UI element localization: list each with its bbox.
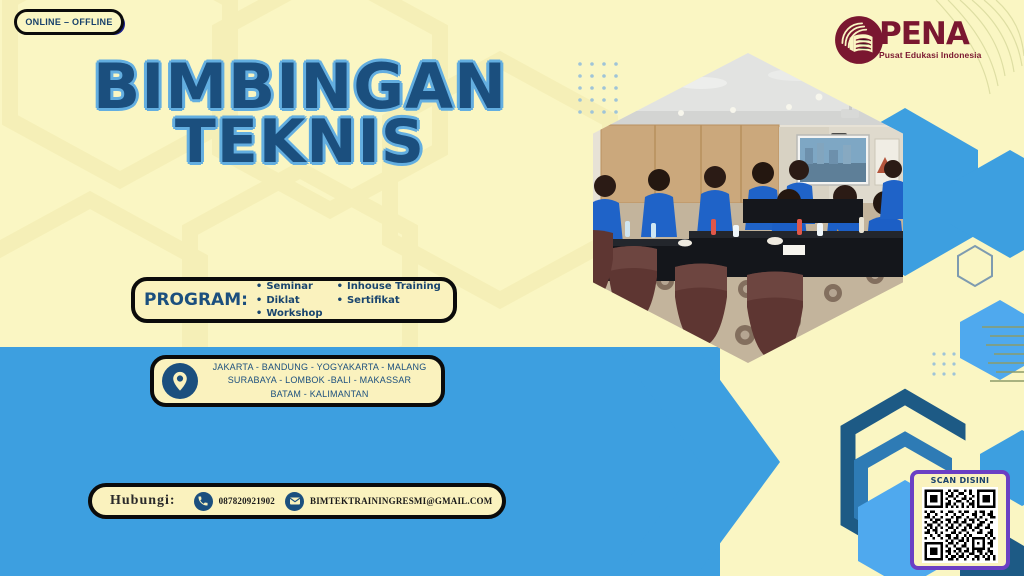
blue-chevron-band (560, 347, 780, 576)
contact-email[interactable]: BIMTEKTRAININGRESMI@GMAIL.COM (285, 492, 492, 511)
pena-emblem-icon (833, 14, 885, 66)
location-line: JAKARTA - BANDUNG - YOGYAKARTA - MALANG (204, 361, 435, 374)
program-item: Workshop (256, 308, 323, 321)
location-lines: JAKARTA - BANDUNG - YOGYAKARTA - MALANG … (204, 361, 441, 400)
logo-text: PENA Pusat Edukasi Indonesia (879, 20, 981, 59)
contact-bar: Hubungi: 087820921902 BIMTEKTRAININGRESM… (88, 483, 506, 519)
envelope-icon (285, 492, 304, 511)
program-columns: Seminar Diklat Workshop Inhouse Training… (256, 281, 441, 321)
badge-label: ONLINE – OFFLINE (25, 17, 112, 27)
page-title: BIMBINGAN TEKNIS (60, 58, 540, 170)
logo-wordmark: PENA (879, 20, 981, 49)
program-column-right: Inhouse Training Sertifikat (337, 281, 441, 321)
program-item: Sertifikat (337, 295, 441, 308)
phone-icon (194, 492, 213, 511)
program-item: Seminar (256, 281, 323, 294)
location-line: SURABAYA - LOMBOK -BALI - MAKASSAR (204, 374, 435, 387)
badge-pill: ONLINE – OFFLINE (14, 9, 124, 35)
hexagon-shape-light-right (960, 300, 1024, 380)
location-box: JAKARTA - BANDUNG - YOGYAKARTA - MALANG … (150, 355, 445, 407)
program-label: PROGRAM: (144, 290, 248, 310)
email-address: BIMTEKTRAININGRESMI@GMAIL.COM (310, 496, 492, 506)
qr-code-image[interactable] (922, 487, 998, 563)
program-column-left: Seminar Diklat Workshop (256, 281, 323, 321)
program-box: PROGRAM: Seminar Diklat Workshop Inhouse… (131, 277, 457, 323)
phone-number: 087820921902 (219, 496, 275, 506)
location-line: BATAM - KALIMANTAN (204, 388, 435, 401)
program-item: Inhouse Training (337, 281, 441, 294)
contact-label: Hubungi: (110, 493, 176, 509)
logo-tagline: Pusat Edukasi Indonesia (879, 50, 981, 60)
contact-phone[interactable]: 087820921902 (194, 492, 275, 511)
program-item: Diklat (256, 295, 323, 308)
online-offline-badge: ONLINE – OFFLINE (14, 9, 124, 35)
pena-logo: PENA Pusat Edukasi Indonesia (833, 12, 1013, 68)
qr-code-card[interactable]: SCAN DISINI (910, 470, 1010, 570)
qr-title: SCAN DISINI (931, 477, 990, 485)
hexagon-outline-decoration (958, 246, 992, 286)
title-line-2: TEKNIS (60, 115, 540, 170)
map-pin-icon (162, 363, 198, 399)
promotional-banner: ONLINE – OFFLINE BIMBINGAN TEKNIS PROGRA… (0, 0, 1024, 576)
